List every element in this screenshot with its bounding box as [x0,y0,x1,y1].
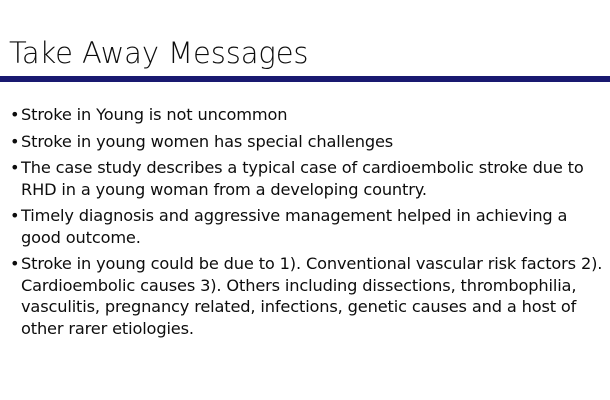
list-item: • The case study describes a typical cas… [8,157,604,200]
list-item-text: Stroke in Young is not uncommon [21,104,604,126]
slide-title-block: Take Away Messages [9,33,598,77]
bullet-point-icon: • [10,104,21,126]
bullet-point-icon: • [10,157,21,179]
page-title: Take Away Messages [9,33,598,73]
bullet-point-icon: • [10,205,21,227]
list-item-text: Timely diagnosis and aggressive manageme… [21,205,604,248]
list-item: • Stroke in young could be due to 1). Co… [8,253,604,339]
slide-body: • Stroke in Young is not uncommon • Stro… [8,104,604,339]
title-divider-rule [0,76,610,82]
list-item: • Stroke in young women has special chal… [8,131,604,153]
list-item: • Stroke in Young is not uncommon [8,104,604,126]
bullet-point-icon: • [10,253,21,275]
list-item: • Timely diagnosis and aggressive manage… [8,205,604,248]
list-item-text: Stroke in young could be due to 1). Conv… [21,253,604,339]
list-item-text: Stroke in young women has special challe… [21,131,604,153]
list-item-text: The case study describes a typical case … [21,157,604,200]
slide: Take Away Messages • Stroke in Young is … [0,0,610,400]
bullet-point-icon: • [10,131,21,153]
